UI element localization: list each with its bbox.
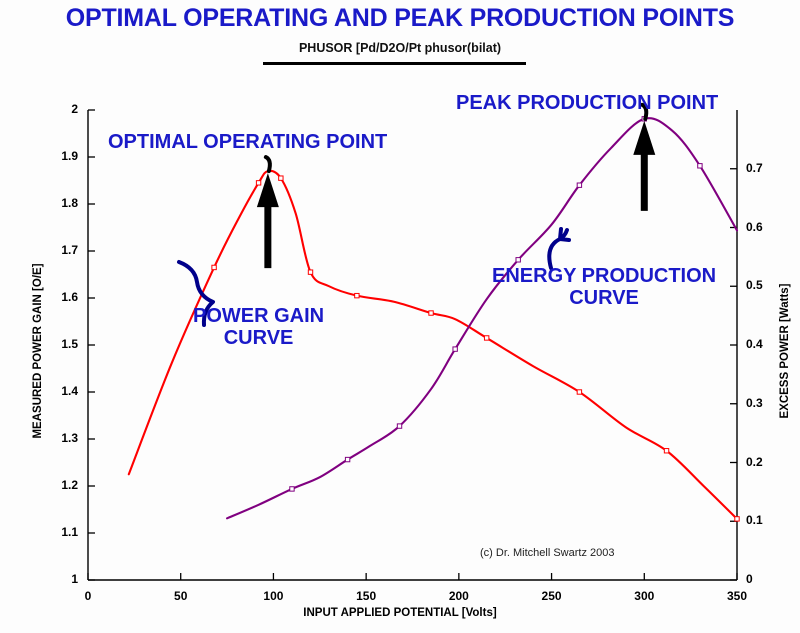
y-tick-label-right-4: 0.4 xyxy=(746,337,800,351)
data-point-marker-0-16 xyxy=(577,390,581,394)
copyright-credit: (c) Dr. Mitchell Swartz 2003 xyxy=(480,547,614,559)
data-point-marker-0-4 xyxy=(256,181,260,185)
power-gain-curve-line-1: POWER GAIN xyxy=(193,305,324,327)
y-tick-label-left-7: 1.7 xyxy=(20,243,78,257)
x-tick-label-4: 200 xyxy=(429,589,489,603)
x-axis-title: INPUT APPLIED POTENTIAL [Volts] xyxy=(0,607,800,619)
y-tick-label-right-7: 0.7 xyxy=(746,161,800,175)
y-tick-label-right-0: 0 xyxy=(746,572,800,586)
y-tick-label-right-6: 0.6 xyxy=(746,220,800,234)
annotation-power-gain-curve: POWER GAIN CURVE xyxy=(193,305,324,350)
annotation-energy-production-curve: ENERGY PRODUCTION CURVE xyxy=(492,265,716,310)
data-point-marker-1-16 xyxy=(698,164,702,168)
leader-line-energy-production-curve xyxy=(549,229,569,268)
data-point-marker-0-18 xyxy=(664,449,668,453)
y-tick-label-right-2: 0.2 xyxy=(746,455,800,469)
data-point-marker-0-10 xyxy=(355,293,359,297)
data-point-marker-1-2 xyxy=(290,487,294,491)
y-tick-label-left-0: 1 xyxy=(20,572,78,586)
data-point-marker-1-6 xyxy=(397,424,401,428)
power-gain-curve-line-2: CURVE xyxy=(193,327,324,349)
x-tick-label-1: 50 xyxy=(151,589,211,603)
y-tick-label-left-9: 1.9 xyxy=(20,149,78,163)
data-point-marker-1-8 xyxy=(453,347,457,351)
x-tick-label-6: 300 xyxy=(614,589,674,603)
y-tick-label-right-1: 0.1 xyxy=(746,513,800,527)
y-tick-label-left-2: 1.2 xyxy=(20,478,78,492)
annotation-optimal-operating-point: OPTIMAL OPERATING POINT xyxy=(108,131,387,153)
data-point-marker-0-6 xyxy=(279,176,283,180)
data-point-marker-1-10 xyxy=(516,258,520,262)
y-tick-label-left-8: 1.8 xyxy=(20,196,78,210)
y-tick-label-left-5: 1.5 xyxy=(20,337,78,351)
data-point-marker-0-8 xyxy=(308,270,312,274)
callout-arrow-optimal-operating-point-tip-hook xyxy=(266,157,270,171)
data-point-marker-1-12 xyxy=(577,183,581,187)
y-tick-label-left-1: 1.1 xyxy=(20,525,78,539)
energy-production-curve-line-2: CURVE xyxy=(492,287,716,309)
data-point-marker-0-20 xyxy=(735,517,739,521)
y-tick-label-left-3: 1.3 xyxy=(20,431,78,445)
y-tick-label-right-3: 0.3 xyxy=(746,396,800,410)
callout-arrow-peak-production-point-head xyxy=(633,121,655,155)
y-tick-label-left-6: 1.6 xyxy=(20,290,78,304)
y-axis-right-title: EXCESS POWER [Watts] xyxy=(779,221,791,481)
y-tick-label-right-5: 0.5 xyxy=(746,278,800,292)
x-tick-label-7: 350 xyxy=(707,589,767,603)
y-tick-label-left-10: 2 xyxy=(20,102,78,116)
x-tick-label-2: 100 xyxy=(243,589,303,603)
data-point-marker-0-12 xyxy=(429,311,433,315)
data-point-marker-0-14 xyxy=(484,336,488,340)
energy-production-curve-line-1: ENERGY PRODUCTION xyxy=(492,265,716,287)
x-tick-label-5: 250 xyxy=(522,589,582,603)
annotation-peak-production-point: PEAK PRODUCTION POINT xyxy=(456,92,718,114)
chart-page: OPTIMAL OPERATING AND PEAK PRODUCTION PO… xyxy=(0,0,800,633)
x-tick-label-0: 0 xyxy=(58,589,118,603)
data-point-marker-0-2 xyxy=(212,265,216,269)
data-point-marker-1-4 xyxy=(345,457,349,461)
y-tick-label-left-4: 1.4 xyxy=(20,384,78,398)
x-tick-label-3: 150 xyxy=(336,589,396,603)
